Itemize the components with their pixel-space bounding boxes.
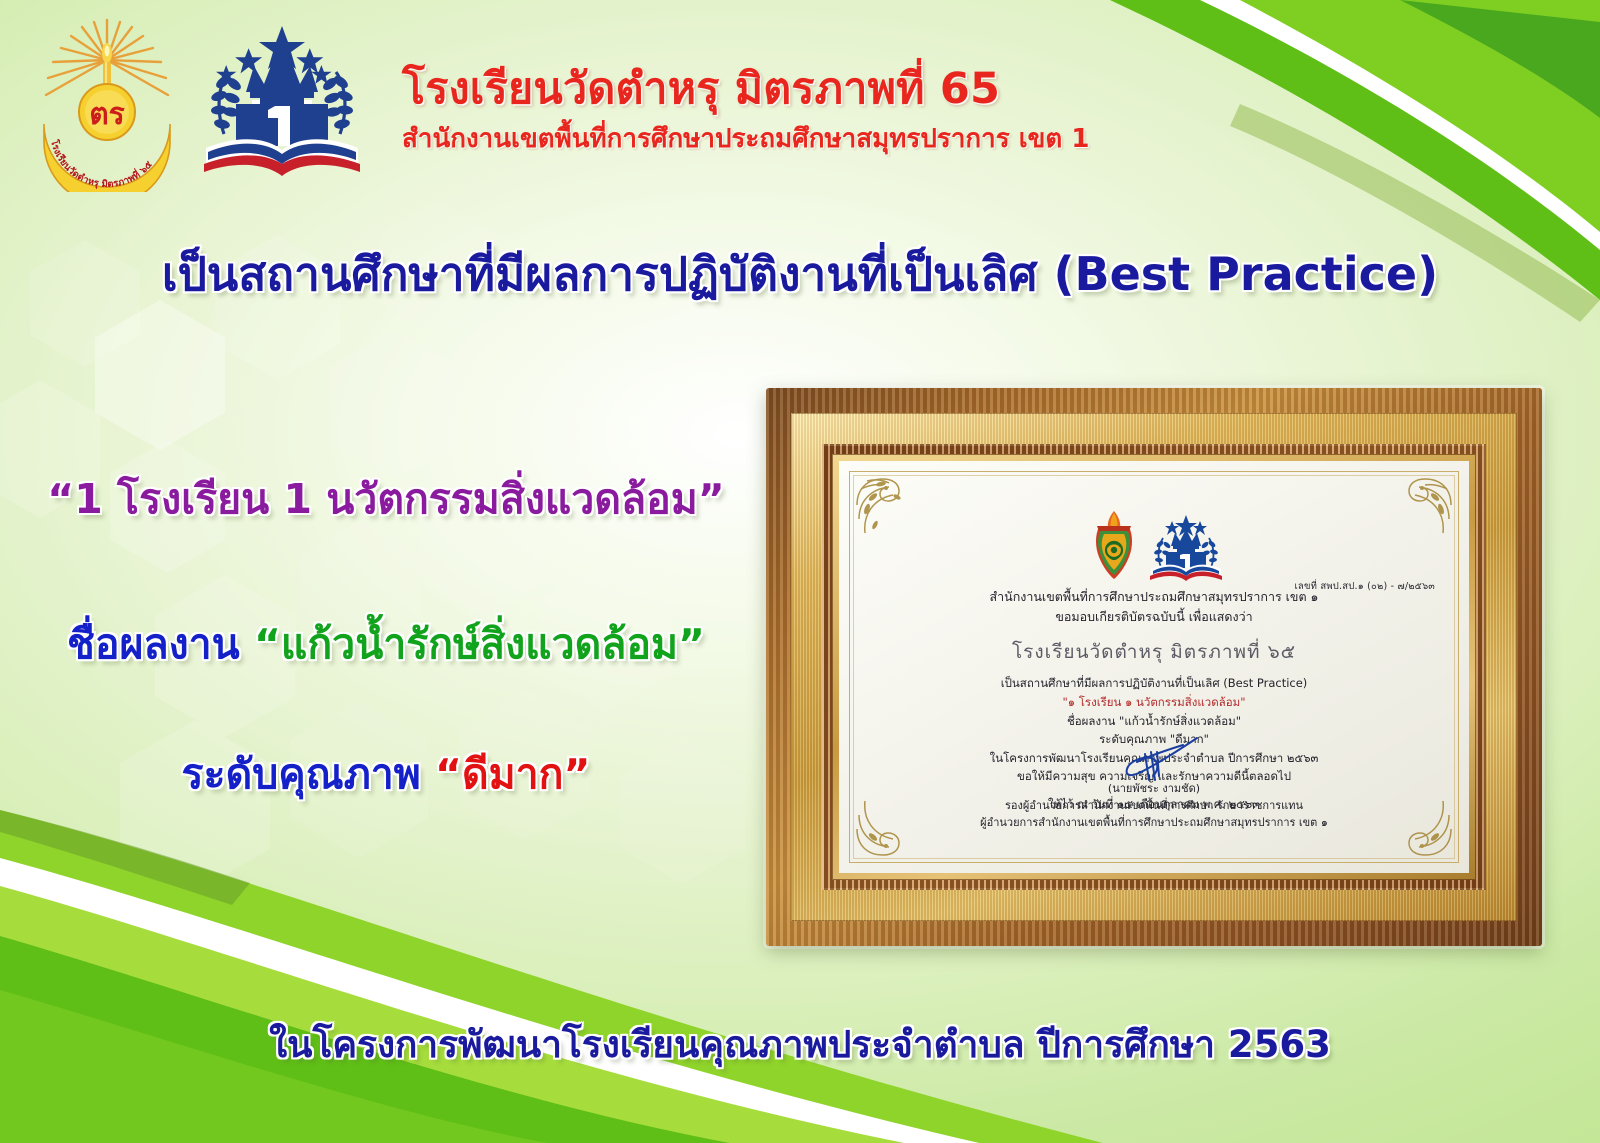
statement-work-title-label: ชื่อผลงาน <box>67 620 254 668</box>
school-name: โรงเรียนวัดตำหรุ มิตรภาพที่ 65 <box>402 66 1162 112</box>
statement-quality-level-label: ระดับคุณภาพ <box>182 750 436 798</box>
statement-quality-level: ระดับคุณภาพ “ดีมาก” <box>6 742 766 807</box>
garuda-emblem-icon <box>1085 509 1143 583</box>
hexagon-shape <box>95 300 225 450</box>
svg-text:ตร: ตร <box>89 97 125 132</box>
statement-work-title-quote: “แก้วน้ำรักษ์สิ่งแวดล้อม” <box>254 620 705 668</box>
signature-mark <box>839 740 1469 780</box>
signer-title-2: ผู้อำนวยการสำนักงานเขตพื้นที่การศึกษาประ… <box>839 814 1469 831</box>
certificate-body-line1: เป็นสถานศึกษาที่มีผลการปฏิบัติงานที่เป็น… <box>839 674 1469 693</box>
poster-canvas: ตร โรงเรียนวัดตำหรุ มิตรภาพที่ ๖๕ <box>0 0 1600 1143</box>
school-title-block: โรงเรียนวัดตำหรุ มิตรภาพที่ 65 สำนักงานเ… <box>402 66 1162 159</box>
certificate-obec-icon <box>1149 513 1223 583</box>
poster-header: ตร โรงเรียนวัดตำหรุ มิตรภาพที่ ๖๕ <box>0 0 1600 200</box>
certificate-signature-area: (นายพัชระ งามชัด) รองผู้อำนวยการสำนักงาน… <box>839 740 1469 831</box>
certificate-document: เลขที่ สพป.สป.๑ (๐๒) - ๗/๒๕๖๓ สำนักงานเข… <box>839 461 1469 873</box>
certificate-issuer-line2: ขอมอบเกียรติบัตรฉบับนี้ เพื่อแสดงว่า <box>839 607 1469 627</box>
school-subtitle: สำนักงานเขตพื้นที่การศึกษาประถมศึกษาสมุท… <box>402 118 1162 159</box>
hexagon-shape <box>330 330 460 480</box>
signer-title-1: รองผู้อำนวยการสำนักงานเขตพื้นที่การศึกษา… <box>839 797 1469 814</box>
certificate-issuer-line1: สำนักงานเขตพื้นที่การศึกษาประถมศึกษาสมุท… <box>839 587 1469 607</box>
certificate-photo-frame: เลขที่ สพป.สป.๑ (๐๒) - ๗/๒๕๖๓ สำนักงานเข… <box>766 388 1542 946</box>
statement-quality-level-quote: “ดีมาก” <box>435 750 590 798</box>
statement-work-title: ชื่อผลงาน “แก้วน้ำรักษ์สิ่งแวดล้อม” <box>6 612 766 677</box>
certificate-logos <box>839 505 1469 583</box>
page-title: เป็นสถานศึกษาที่มีผลการปฏิบัติงานที่เป็น… <box>0 238 1600 311</box>
certificate-recipient: โรงเรียนวัดตำหรุ มิตรภาพที่ ๖๕ <box>839 637 1469 668</box>
school-emblem-icon: ตร โรงเรียนวัดตำหรุ มิตรภาพที่ ๖๕ <box>32 12 182 192</box>
hexagon-shape <box>640 300 760 438</box>
statement-innovation: “1 โรงเรียน 1 นวัตกรรมสิ่งแวดล้อม” <box>6 467 766 532</box>
statement-innovation-quote: “1 โรงเรียน 1 นวัตกรรมสิ่งแวดล้อม” <box>47 475 724 523</box>
certificate-body-line2: "๑ โรงเรียน ๑ นวัตกรรมสิ่งแวดล้อม" <box>839 693 1469 712</box>
obec-crown-book-icon <box>182 14 382 190</box>
footer-project-line: ในโครงการพัฒนาโรงเรียนคุณภาพประจำตำบล ปี… <box>0 1015 1600 1074</box>
certificate-body-line3: ชื่อผลงาน "แก้วน้ำรักษ์สิ่งแวดล้อม" <box>839 712 1469 731</box>
